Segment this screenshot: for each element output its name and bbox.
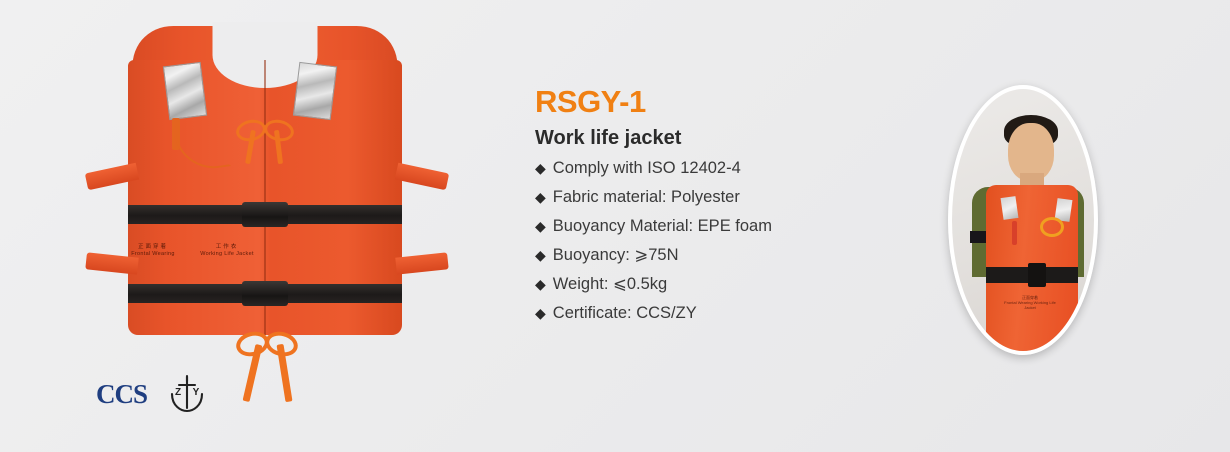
belt-buckle-upper bbox=[242, 202, 288, 227]
model-vest-print-english: Frontal Wearing Working Life Jacket bbox=[1000, 300, 1060, 310]
product-model-title: RSGY-1 bbox=[535, 86, 925, 117]
side-strap-right-lower bbox=[395, 252, 448, 274]
bullet-diamond-icon: ◆ bbox=[535, 248, 546, 262]
spec-item-label: Weight: ⩽0.5kg bbox=[553, 276, 667, 293]
product-banner: 正面穿着 Frontal Wearing 工作衣 Working Life Ja… bbox=[0, 0, 1230, 452]
model-vest-tie bbox=[1040, 217, 1064, 237]
spec-item-buoyancy-material: ◆ Buoyancy Material: EPE foam bbox=[535, 218, 925, 235]
side-strap-right-upper bbox=[395, 163, 449, 190]
bullet-diamond-icon: ◆ bbox=[535, 277, 546, 291]
spec-item-iso: ◆ Comply with ISO 12402-4 bbox=[535, 160, 925, 177]
spec-item-label: Certificate: CCS/ZY bbox=[553, 305, 697, 322]
reflective-patch-left bbox=[163, 62, 207, 120]
spec-item-weight: ◆ Weight: ⩽0.5kg bbox=[535, 276, 925, 293]
product-subtitle: Work life jacket bbox=[535, 128, 925, 148]
product-image-life-jacket: 正面穿着 Frontal Wearing 工作衣 Working Life Ja… bbox=[0, 0, 500, 452]
specification-panel: RSGY-1 Work life jacket ◆ Comply with IS… bbox=[535, 86, 925, 334]
reflective-patch-right bbox=[293, 62, 337, 120]
model-whistle-cord bbox=[1012, 221, 1017, 245]
ccs-certification-logo: CCS Z Y bbox=[96, 372, 209, 416]
bullet-diamond-icon: ◆ bbox=[535, 306, 546, 320]
spec-item-fabric: ◆ Fabric material: Polyester bbox=[535, 189, 925, 206]
specification-list: ◆ Comply with ISO 12402-4 ◆ Fabric mater… bbox=[535, 160, 925, 322]
chest-tie-knot bbox=[236, 118, 294, 138]
bullet-diamond-icon: ◆ bbox=[535, 219, 546, 233]
model-vest-printed-label: 正面穿着 Frontal Wearing Working Life Jacket bbox=[1000, 295, 1060, 311]
ccs-wordmark: CCS bbox=[96, 381, 147, 408]
anchor-icon: Z Y bbox=[165, 372, 209, 416]
spec-item-label: Buoyancy: ⩾75N bbox=[553, 247, 679, 264]
bullet-diamond-icon: ◆ bbox=[535, 161, 546, 175]
spec-item-buoyancy: ◆ Buoyancy: ⩾75N bbox=[535, 247, 925, 264]
spec-item-certificate: ◆ Certificate: CCS/ZY bbox=[535, 305, 925, 322]
spec-item-label: Buoyancy Material: EPE foam bbox=[553, 218, 772, 235]
spec-item-label: Fabric material: Polyester bbox=[553, 189, 740, 206]
model-vest-belt-buckle bbox=[1028, 263, 1046, 287]
spec-item-label: Comply with ISO 12402-4 bbox=[553, 160, 741, 177]
hem-tie-knot bbox=[236, 330, 298, 352]
anchor-letter-z: Z bbox=[175, 387, 181, 398]
belt-buckle-lower bbox=[242, 281, 288, 306]
anchor-letter-y: Y bbox=[193, 387, 200, 398]
bullet-diamond-icon: ◆ bbox=[535, 190, 546, 204]
model-reflective-patch-left bbox=[1001, 196, 1019, 220]
model-photo-oval: 正面穿着 Frontal Wearing Working Life Jacket bbox=[948, 85, 1098, 355]
